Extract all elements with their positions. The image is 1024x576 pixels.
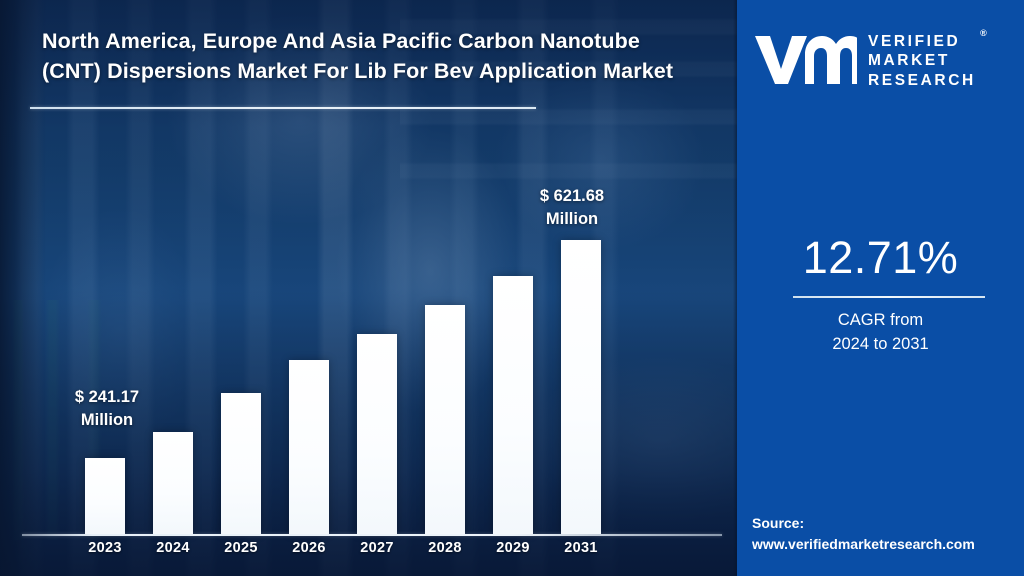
bar-2026: [289, 360, 329, 534]
value-callout-first-amount: $ 241.17: [32, 386, 182, 409]
source-url[interactable]: www.verifiedmarketresearch.com: [752, 534, 1024, 555]
cagr-caption-line1: CAGR from: [737, 308, 1024, 332]
value-callout-last-amount: $ 621.68: [497, 185, 647, 208]
x-axis-label-2023: 2023: [71, 540, 139, 556]
cagr-caption: CAGR from 2024 to 2031: [737, 308, 1024, 356]
bar-2025: [221, 393, 261, 534]
x-axis-label-2029: 2029: [479, 540, 547, 556]
value-callout-last-unit: Million: [497, 208, 647, 231]
brand-panel: VERIFIED MARKET RESEARCH ® 12.71% CAGR f…: [737, 0, 1024, 576]
x-axis-label-2027: 2027: [343, 540, 411, 556]
chart-panel: North America, Europe And Asia Pacific C…: [0, 0, 737, 576]
source-label: Source:: [752, 513, 1024, 534]
x-axis-label-2031: 2031: [547, 540, 615, 556]
infographic-root: North America, Europe And Asia Pacific C…: [0, 0, 1024, 576]
value-callout-last: $ 621.68 Million: [497, 185, 647, 231]
cagr-divider: [793, 296, 985, 298]
x-axis-label-2025: 2025: [207, 540, 275, 556]
bar-2028: [425, 305, 465, 534]
registered-trademark-icon: ®: [980, 28, 987, 38]
bar-2024: [153, 432, 193, 534]
vmr-monogram-icon: [753, 32, 857, 88]
value-callout-first: $ 241.17 Million: [32, 386, 182, 432]
bar-2031: [561, 240, 601, 534]
bar-2023: [85, 458, 125, 534]
bar-2027: [357, 334, 397, 534]
x-axis-label-2026: 2026: [275, 540, 343, 556]
x-axis-label-2028: 2028: [411, 540, 479, 556]
value-callout-first-unit: Million: [32, 409, 182, 432]
x-axis-line: [22, 534, 722, 536]
logo-line-market: MARKET: [868, 51, 976, 71]
x-axis-label-2024: 2024: [139, 540, 207, 556]
bar-chart-plot-area: 20232024202520262027202820292031 $ 241.1…: [0, 0, 737, 576]
logo-line-verified: VERIFIED: [868, 32, 976, 52]
panel-edge-shadow: [733, 0, 737, 576]
cagr-caption-line2: 2024 to 2031: [737, 332, 1024, 356]
source-attribution: Source: www.verifiedmarketresearch.com: [752, 513, 1024, 555]
logo-wordmark: VERIFIED MARKET RESEARCH ®: [868, 30, 976, 91]
bar-2029: [493, 276, 533, 534]
verified-market-research-logo[interactable]: VERIFIED MARKET RESEARCH ®: [753, 24, 1011, 96]
cagr-value: 12.71%: [737, 232, 1024, 284]
logo-line-research: RESEARCH: [868, 71, 976, 91]
